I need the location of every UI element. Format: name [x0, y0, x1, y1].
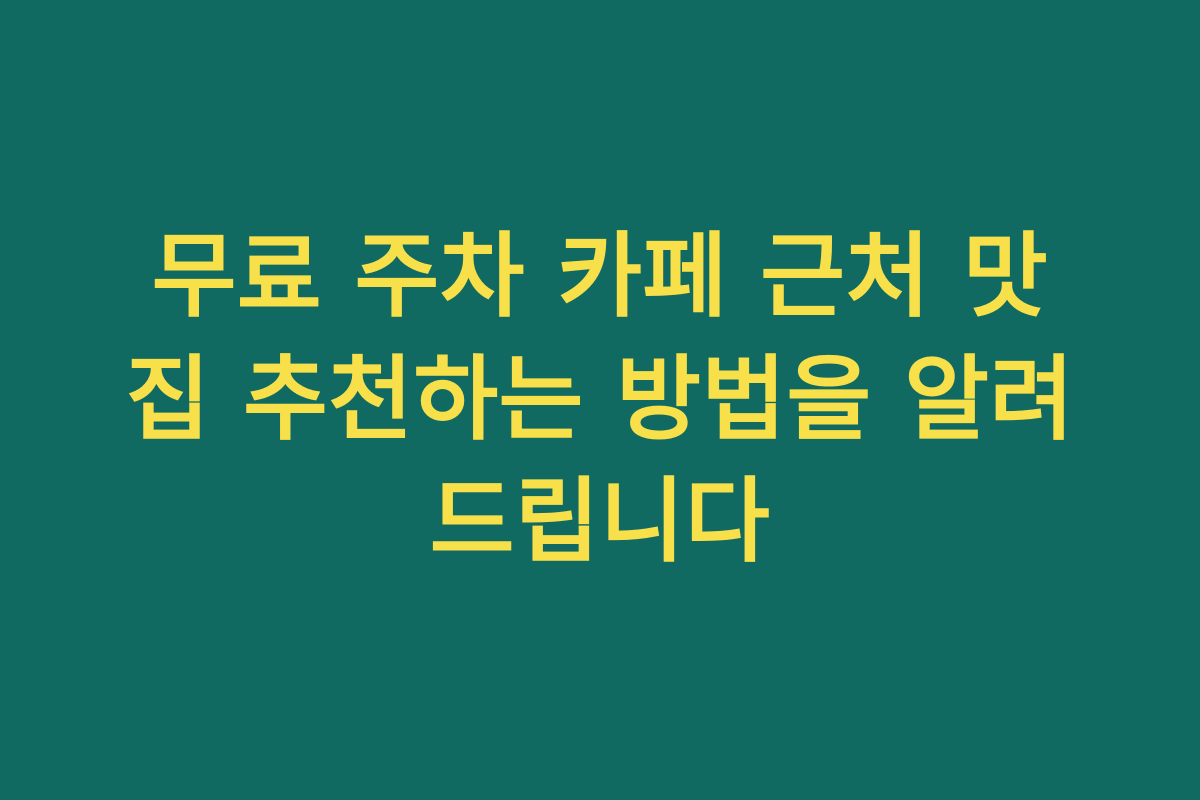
headline-line-1: 무료 주차 카페 근처 맛 [70, 216, 1130, 338]
page-title: 무료 주차 카페 근처 맛 집 추천하는 방법을 알려 드립니다 [70, 216, 1130, 583]
headline-line-2: 집 추천하는 방법을 알려 [70, 339, 1130, 461]
banner-canvas: 무료 주차 카페 근처 맛 집 추천하는 방법을 알려 드립니다 [0, 0, 1200, 800]
headline-line-3: 드립니다 [70, 461, 1130, 583]
